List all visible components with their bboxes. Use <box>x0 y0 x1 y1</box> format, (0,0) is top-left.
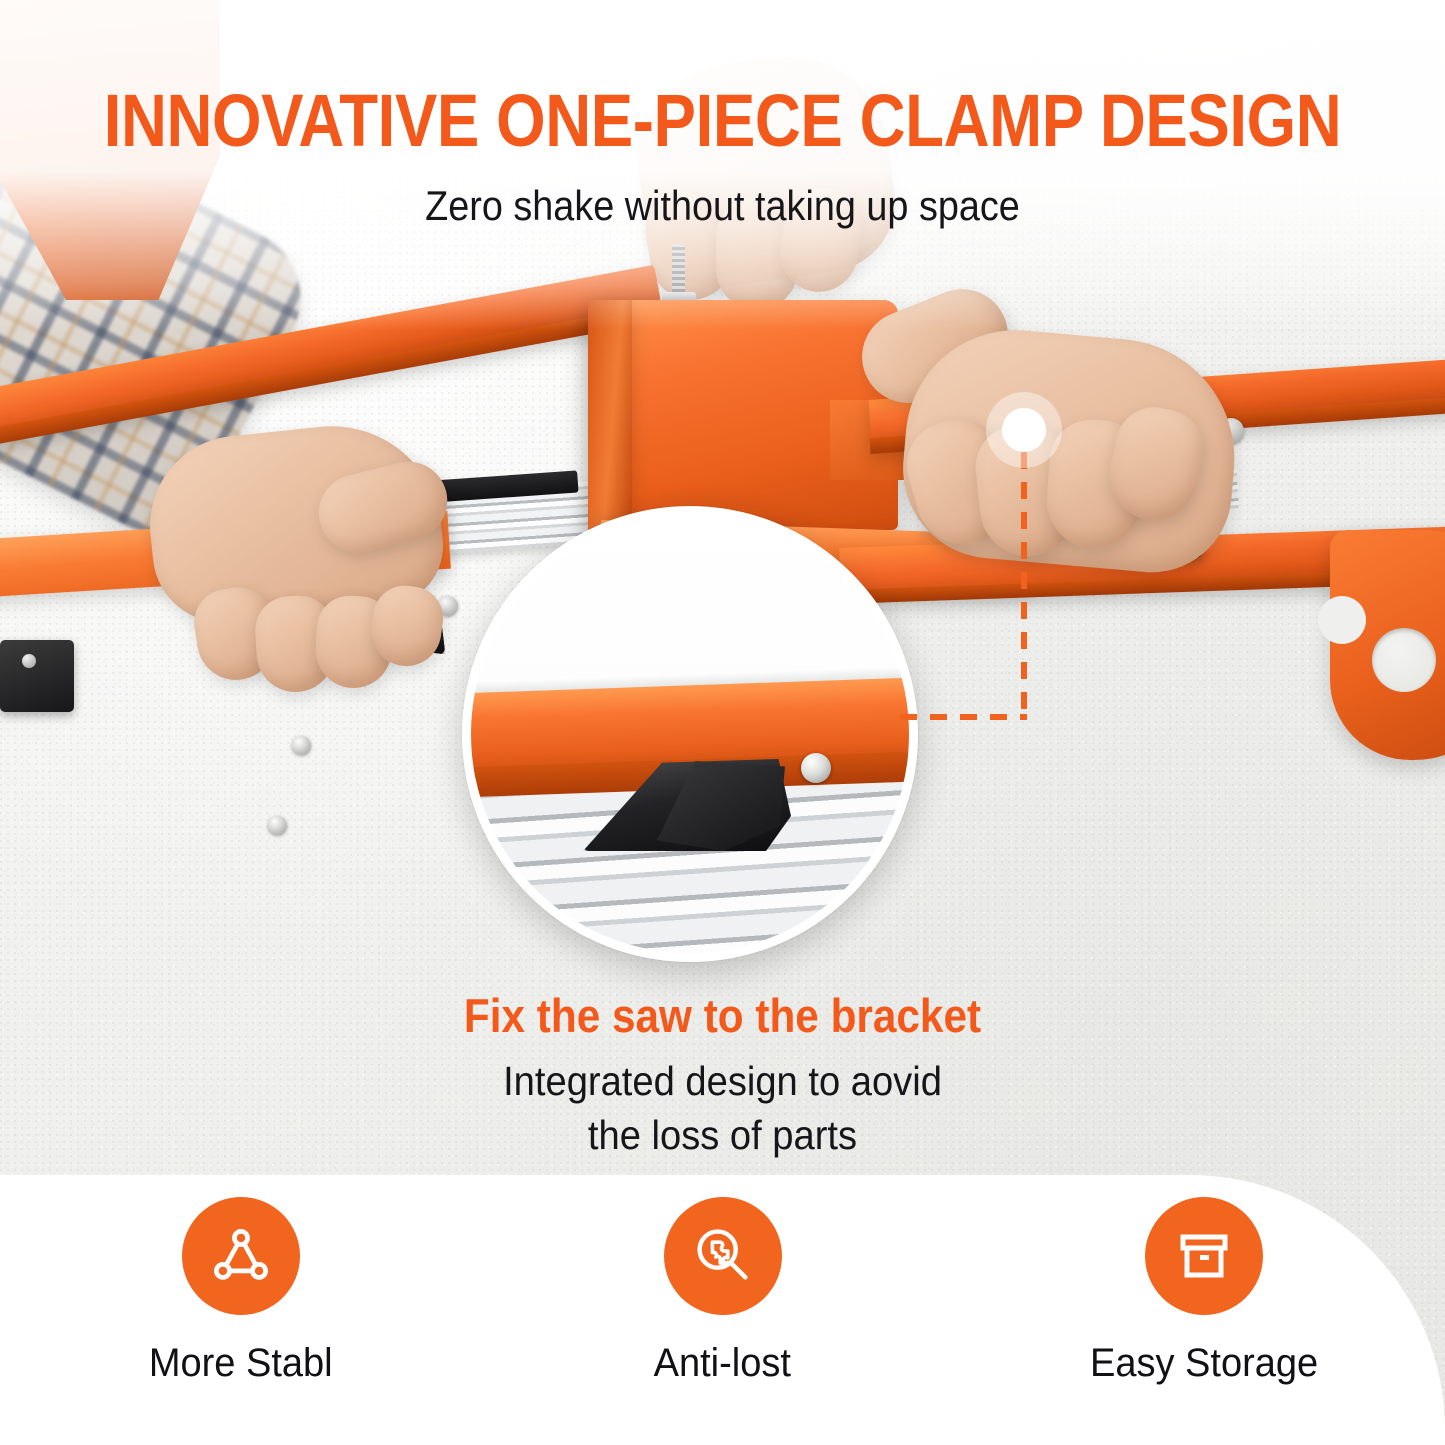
product-infographic-page: INNOVATIVE ONE-PIECE CLAMP DESIGN Zero s… <box>0 0 1445 1445</box>
feature-item-more-stable: More Stabl <box>0 1197 482 1386</box>
clamp-side-face <box>588 300 632 530</box>
white-dot-marker <box>1002 408 1046 452</box>
feature-icon-circle <box>664 1197 782 1315</box>
feature-item-easy-storage: Easy Storage <box>963 1197 1445 1386</box>
feature-label: More Stabl <box>149 1341 333 1386</box>
triangle-network-icon <box>207 1222 275 1290</box>
feature-icon-circle <box>1145 1197 1263 1315</box>
zoom-screw-icon <box>801 753 831 783</box>
storage-box-icon <box>1172 1224 1236 1288</box>
feature-item-anti-lost: Anti-lost <box>482 1197 964 1386</box>
left-black-bracket <box>0 640 74 712</box>
zoom-detail-circle <box>462 506 918 962</box>
zoom-detail-content <box>471 515 909 953</box>
feature-row: More Stabl Anti-lost <box>0 1175 1445 1445</box>
callout-dashed-line-horizontal <box>900 714 1027 720</box>
screw-icon <box>268 816 287 835</box>
top-fade-overlay <box>0 0 1445 330</box>
feature-label: Easy Storage <box>1090 1341 1318 1386</box>
mid-section-line-1: Integrated design to aovid <box>51 1058 1395 1105</box>
callout-dashed-line-vertical <box>1021 452 1027 718</box>
feature-label: Anti-lost <box>654 1341 791 1386</box>
page-subheadline: Zero shake without taking up space <box>72 182 1373 230</box>
magnifier-puzzle-icon <box>689 1222 757 1290</box>
page-headline: INNOVATIVE ONE-PIECE CLAMP DESIGN <box>101 78 1344 163</box>
mid-section-line-2: the loss of parts <box>51 1112 1395 1159</box>
feature-icon-circle <box>182 1197 300 1315</box>
screw-icon <box>292 736 311 755</box>
mid-section-title: Fix the saw to the bracket <box>72 988 1373 1043</box>
right-rounded-plate <box>1330 530 1445 760</box>
right-plate-notch <box>1318 596 1366 644</box>
